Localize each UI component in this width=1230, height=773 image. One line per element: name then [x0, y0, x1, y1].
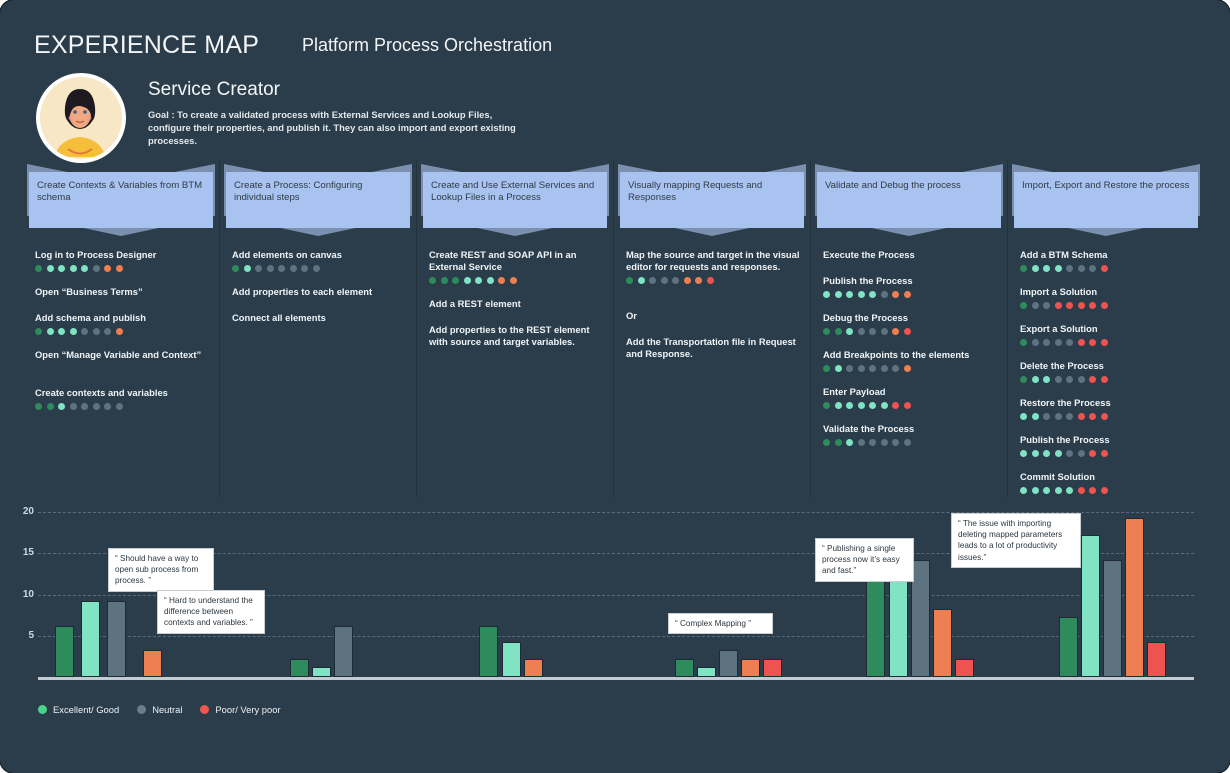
- rating-dot-dark-green: [835, 439, 842, 446]
- step-label: Export a Solution: [1020, 323, 1194, 335]
- step-rating-dots: [1020, 302, 1194, 309]
- rating-dot-grey: [881, 328, 888, 335]
- stage-step[interactable]: Or: [626, 310, 800, 322]
- step-label: Add elements on canvas: [232, 249, 406, 261]
- chart-bar-mint: [81, 601, 100, 677]
- step-rating-dots: [1020, 413, 1194, 420]
- rating-dot-red: [904, 328, 911, 335]
- rating-dot-dark-green: [35, 265, 42, 272]
- rating-dot-orange: [684, 277, 691, 284]
- rating-dot-grey: [1066, 376, 1073, 383]
- chart-bar-red: [763, 659, 782, 678]
- rating-dot-red: [707, 277, 714, 284]
- rating-dot-mint: [846, 291, 853, 298]
- rating-dot-mint: [846, 402, 853, 409]
- rating-dot-grey: [93, 265, 100, 272]
- chart-quote-annotation: “ Should have a way to open sub process …: [108, 548, 214, 592]
- legend-dot: [38, 705, 47, 714]
- rating-dot-grey: [904, 439, 911, 446]
- rating-dot-mint: [487, 277, 494, 284]
- rating-dot-dark-green: [47, 403, 54, 410]
- step-rating-dots: [232, 265, 406, 272]
- stage-step[interactable]: Add the Transportation file in Request a…: [626, 336, 800, 360]
- rating-dot-dark-green: [35, 328, 42, 335]
- rating-dot-mint: [1032, 450, 1039, 457]
- stage-title: Create a Process: Configuring individual…: [234, 180, 402, 205]
- rating-dot-mint: [835, 365, 842, 372]
- legend-item[interactable]: Excellent/ Good: [38, 704, 119, 715]
- step-rating-dots: [35, 328, 209, 335]
- stage-title: Validate and Debug the process: [825, 180, 993, 192]
- rating-dot-mint: [1032, 265, 1039, 272]
- stage-banner[interactable]: Import, Export and Restore the process: [1014, 172, 1198, 228]
- rating-dot-grey: [869, 365, 876, 372]
- chart-bar-dark-green: [675, 659, 694, 678]
- rating-dot-mint: [70, 328, 77, 335]
- rating-dot-grey: [672, 277, 679, 284]
- stage-banner[interactable]: Visually mapping Requests and Responses: [620, 172, 804, 228]
- rating-dot-mint: [869, 402, 876, 409]
- rating-dot-mint: [47, 265, 54, 272]
- chart-bar-dark-green: [866, 576, 885, 677]
- rating-dot-red: [1089, 376, 1096, 383]
- rating-dot-dark-green: [1020, 376, 1027, 383]
- column-divider: [810, 160, 811, 498]
- rating-dot-red: [1078, 413, 1085, 420]
- rating-dot-grey: [1055, 413, 1062, 420]
- rating-dot-dark-green: [823, 439, 830, 446]
- step-rating-dots: [823, 328, 997, 335]
- rating-dot-grey: [70, 403, 77, 410]
- rating-dot-grey: [892, 439, 899, 446]
- rating-dot-red: [1101, 302, 1108, 309]
- rating-dot-mint: [1043, 265, 1050, 272]
- chart-legend: Excellent/ GoodNeutralPoor/ Very poor: [38, 704, 281, 715]
- step-rating-dots: [429, 277, 603, 284]
- rating-dot-grey: [1032, 302, 1039, 309]
- rating-dot-red: [1101, 450, 1108, 457]
- rating-dot-grey: [869, 439, 876, 446]
- rating-dot-red: [1078, 339, 1085, 346]
- rating-dot-grey: [661, 277, 668, 284]
- step-label: Add properties to each element: [232, 286, 406, 298]
- rating-dot-dark-green: [823, 365, 830, 372]
- step-rating-dots: [823, 365, 997, 372]
- stage-step[interactable]: Connect all elements: [232, 312, 406, 324]
- rating-dot-mint: [846, 328, 853, 335]
- rating-dot-red: [1101, 265, 1108, 272]
- rating-dot-grey: [892, 365, 899, 372]
- stage-title: Create and Use External Services and Loo…: [431, 180, 599, 205]
- step-rating-dots: [823, 291, 997, 298]
- step-label: Map the source and target in the visual …: [626, 249, 800, 273]
- rating-dot-grey: [1055, 376, 1062, 383]
- rating-dot-grey: [81, 328, 88, 335]
- step-label: Create contexts and variables: [35, 387, 209, 399]
- stage-step[interactable]: Publish the Process: [1020, 434, 1194, 457]
- rating-dot-grey: [846, 365, 853, 372]
- rating-dot-red: [1101, 413, 1108, 420]
- stage-step[interactable]: Validate the Process: [823, 423, 997, 446]
- rating-dot-mint: [1066, 487, 1073, 494]
- rating-dot-mint: [638, 277, 645, 284]
- rating-dot-dark-green: [1020, 265, 1027, 272]
- rating-dot-grey: [104, 328, 111, 335]
- rating-dot-grey: [1066, 413, 1073, 420]
- rating-dot-mint: [70, 265, 77, 272]
- stage-step[interactable]: Create REST and SOAP API in an External …: [429, 249, 603, 284]
- stage-column-2: Create a Process: Configuring individual…: [224, 150, 412, 498]
- chart-bar-dark-green: [1059, 617, 1078, 677]
- rating-dot-mint: [58, 328, 65, 335]
- rating-dot-mint: [47, 328, 54, 335]
- stage-column-6: Import, Export and Restore the processAd…: [1012, 150, 1200, 498]
- rating-dot-red: [892, 402, 899, 409]
- rating-dot-dark-green: [823, 328, 830, 335]
- stage-banner[interactable]: Create a Process: Configuring individual…: [226, 172, 410, 228]
- chart-bar-dark-green: [55, 626, 74, 678]
- stage-step[interactable]: Restore the Process: [1020, 397, 1194, 420]
- rating-dot-grey: [93, 328, 100, 335]
- rating-dot-red: [1089, 450, 1096, 457]
- stage-step[interactable]: Publish the Process: [823, 275, 997, 298]
- rating-dot-red: [1078, 302, 1085, 309]
- stage-title: Import, Export and Restore the process: [1022, 180, 1190, 192]
- stage-column-3: Create and Use External Services and Loo…: [421, 150, 609, 498]
- rating-dot-orange: [510, 277, 517, 284]
- rating-dot-mint: [1032, 413, 1039, 420]
- stage-step[interactable]: Add Breakpoints to the elements: [823, 349, 997, 372]
- rating-dot-dark-green: [232, 265, 239, 272]
- step-rating-dots: [1020, 339, 1194, 346]
- step-rating-dots: [35, 403, 209, 410]
- stage-column-5: Validate and Debug the processExecute th…: [815, 150, 1003, 498]
- rating-dot-mint: [835, 402, 842, 409]
- rating-dot-dark-green: [452, 277, 459, 284]
- rating-dot-grey: [881, 291, 888, 298]
- rating-dot-red: [1089, 413, 1096, 420]
- rating-dot-grey: [1089, 265, 1096, 272]
- column-divider: [416, 160, 417, 498]
- rating-dot-mint: [1043, 450, 1050, 457]
- step-label: Add Breakpoints to the elements: [823, 349, 997, 361]
- step-label: Validate the Process: [823, 423, 997, 435]
- rating-dot-orange: [904, 365, 911, 372]
- chart-baseline: [38, 677, 1194, 680]
- rating-dot-red: [904, 402, 911, 409]
- rating-dot-mint: [475, 277, 482, 284]
- step-label: Or: [626, 310, 800, 322]
- rating-dot-mint: [1020, 413, 1027, 420]
- step-label: Publish the Process: [1020, 434, 1194, 446]
- rating-dot-mint: [1043, 487, 1050, 494]
- rating-dot-mint: [244, 265, 251, 272]
- rating-dot-mint: [1055, 487, 1062, 494]
- rating-dot-mint: [464, 277, 471, 284]
- chart-bar-dark-green: [479, 626, 498, 678]
- rating-dot-grey: [1078, 376, 1085, 383]
- rating-dot-red: [1078, 487, 1085, 494]
- step-rating-dots: [1020, 450, 1194, 457]
- stage-banner[interactable]: Validate and Debug the process: [817, 172, 1001, 228]
- step-label: Add a REST element: [429, 298, 603, 310]
- chart-bar-mint: [889, 576, 908, 677]
- legend-item[interactable]: Poor/ Very poor: [200, 704, 280, 715]
- rating-dot-dark-green: [1020, 339, 1027, 346]
- rating-dot-mint: [835, 291, 842, 298]
- rating-dot-orange: [904, 291, 911, 298]
- chart-quote-annotation: “ Complex Mapping ”: [668, 613, 773, 634]
- rating-dot-grey: [881, 439, 888, 446]
- rating-dot-grey: [301, 265, 308, 272]
- rating-dot-grey: [1032, 339, 1039, 346]
- stage-step[interactable]: Debug the Process: [823, 312, 997, 335]
- rating-dot-grey: [267, 265, 274, 272]
- stage-step[interactable]: Execute the Process: [823, 249, 997, 261]
- stage-step[interactable]: Commit Solution: [1020, 471, 1194, 494]
- rating-dot-dark-green: [835, 328, 842, 335]
- rating-dot-orange: [695, 277, 702, 284]
- stage-step[interactable]: Import a Solution: [1020, 286, 1194, 309]
- rating-dot-grey: [858, 328, 865, 335]
- chart-bar-grey: [107, 601, 126, 677]
- stage-column-4: Visually mapping Requests and ResponsesM…: [618, 150, 806, 498]
- rating-dot-grey: [104, 403, 111, 410]
- rating-dot-mint: [846, 439, 853, 446]
- step-label: Commit Solution: [1020, 471, 1194, 483]
- step-label: Log in to Process Designer: [35, 249, 209, 261]
- step-label: Add schema and publish: [35, 312, 209, 324]
- rating-dot-grey: [290, 265, 297, 272]
- avatar-illustration: [40, 77, 120, 157]
- chart-bar-mint: [1081, 535, 1100, 677]
- step-label: Create REST and SOAP API in an External …: [429, 249, 603, 273]
- stage-step[interactable]: Add schema and publish: [35, 312, 209, 335]
- chart-quote-annotation: “ Publishing a single process now it’s e…: [815, 538, 914, 582]
- chart-bar-mint: [502, 642, 521, 677]
- chart-bar-mint: [312, 667, 331, 677]
- rating-dot-dark-green: [35, 403, 42, 410]
- persona-goal: Goal : To create a validated process wit…: [148, 108, 518, 147]
- rating-dot-grey: [93, 403, 100, 410]
- step-label: Add a BTM Schema: [1020, 249, 1194, 261]
- persona-name: Service Creator: [148, 79, 280, 101]
- rating-dot-mint: [81, 265, 88, 272]
- rating-dot-orange: [892, 328, 899, 335]
- rating-dot-grey: [869, 328, 876, 335]
- rating-dot-mint: [823, 291, 830, 298]
- stage-banner[interactable]: Create Contexts & Variables from BTM sch…: [29, 172, 213, 228]
- rating-dot-mint: [881, 402, 888, 409]
- rating-dot-grey: [649, 277, 656, 284]
- rating-dot-red: [1089, 302, 1096, 309]
- rating-dot-grey: [1066, 265, 1073, 272]
- chart-bar-grey: [1103, 560, 1122, 678]
- rating-dot-mint: [1032, 376, 1039, 383]
- chart-bar-red: [955, 659, 974, 678]
- step-label: Debug the Process: [823, 312, 997, 324]
- stage-title: Visually mapping Requests and Responses: [628, 180, 796, 205]
- step-label: Add properties to the REST element with …: [429, 324, 603, 348]
- rating-dot-grey: [255, 265, 262, 272]
- rating-dot-grey: [1043, 339, 1050, 346]
- rating-dot-orange: [104, 265, 111, 272]
- rating-dot-mint: [1055, 450, 1062, 457]
- stage-step[interactable]: Open “Manage Variable and Context”: [35, 349, 209, 361]
- step-rating-dots: [35, 265, 209, 272]
- step-rating-dots: [823, 439, 997, 446]
- legend-label: Excellent/ Good: [53, 704, 119, 715]
- stage-step[interactable]: Add a REST element: [429, 298, 603, 310]
- rating-dot-grey: [881, 365, 888, 372]
- step-label: Open “Manage Variable and Context”: [35, 349, 209, 361]
- stage-step[interactable]: Add properties to the REST element with …: [429, 324, 603, 348]
- rating-dot-red: [1101, 487, 1108, 494]
- legend-item[interactable]: Neutral: [137, 704, 182, 715]
- rating-dot-grey: [1055, 339, 1062, 346]
- rating-dot-orange: [116, 328, 123, 335]
- rating-dot-mint: [58, 403, 65, 410]
- stage-step[interactable]: Log in to Process Designer: [35, 249, 209, 272]
- step-label: Publish the Process: [823, 275, 997, 287]
- chart-bar-orange: [143, 650, 162, 677]
- rating-dot-dark-green: [429, 277, 436, 284]
- step-label: Execute the Process: [823, 249, 997, 261]
- step-label: Delete the Process: [1020, 360, 1194, 372]
- chart-bar-orange: [741, 659, 760, 678]
- rating-dot-grey: [1078, 450, 1085, 457]
- rating-dot-grey: [81, 403, 88, 410]
- rating-dot-grey: [1043, 302, 1050, 309]
- rating-dot-orange: [116, 265, 123, 272]
- rating-dot-mint: [1043, 376, 1050, 383]
- rating-dot-mint: [1032, 487, 1039, 494]
- rating-dot-grey: [1066, 339, 1073, 346]
- rating-dot-dark-green: [823, 402, 830, 409]
- rating-dot-grey: [1043, 413, 1050, 420]
- step-rating-dots: [1020, 487, 1194, 494]
- legend-label: Poor/ Very poor: [215, 704, 280, 715]
- step-label: Open “Business Terms”: [35, 286, 209, 298]
- rating-dot-grey: [313, 265, 320, 272]
- legend-label: Neutral: [152, 704, 182, 715]
- step-rating-dots: [1020, 376, 1194, 383]
- stage-step[interactable]: Enter Payload: [823, 386, 997, 409]
- stage-step[interactable]: Map the source and target in the visual …: [626, 249, 800, 284]
- rating-dot-red: [1055, 302, 1062, 309]
- rating-dot-mint: [58, 265, 65, 272]
- chart-quote-annotation: “ Hard to understand the difference betw…: [157, 590, 265, 634]
- rating-dot-red: [1066, 302, 1073, 309]
- stage-step[interactable]: Add properties to each element: [232, 286, 406, 298]
- rating-dot-mint: [1020, 450, 1027, 457]
- chart-bar-red: [1147, 642, 1166, 677]
- stage-step[interactable]: Open “Business Terms”: [35, 286, 209, 298]
- rating-dot-orange: [892, 291, 899, 298]
- rating-dot-red: [1089, 339, 1096, 346]
- rating-dot-red: [1089, 487, 1096, 494]
- step-label: Add the Transportation file in Request a…: [626, 336, 800, 360]
- rating-dot-grey: [116, 403, 123, 410]
- chart-bar-orange: [933, 609, 952, 677]
- step-rating-dots: [626, 277, 800, 284]
- step-label: Enter Payload: [823, 386, 997, 398]
- rating-dot-mint: [1020, 487, 1027, 494]
- column-divider: [219, 160, 220, 498]
- rating-dot-grey: [858, 439, 865, 446]
- rating-dot-grey: [278, 265, 285, 272]
- step-label: Import a Solution: [1020, 286, 1194, 298]
- rating-dot-red: [1101, 376, 1108, 383]
- chart-bar-mint: [697, 667, 716, 677]
- stage-step[interactable]: Add a BTM Schema: [1020, 249, 1194, 272]
- step-label: Restore the Process: [1020, 397, 1194, 409]
- rating-dot-mint: [869, 291, 876, 298]
- chart-bar-grey: [719, 650, 738, 677]
- rating-dot-orange: [498, 277, 505, 284]
- rating-dot-grey: [858, 365, 865, 372]
- step-rating-dots: [1020, 265, 1194, 272]
- rating-dot-dark-green: [626, 277, 633, 284]
- rating-dot-mint: [858, 291, 865, 298]
- rating-dot-dark-green: [441, 277, 448, 284]
- rating-dot-grey: [1066, 450, 1073, 457]
- page-title: EXPERIENCE MAP: [34, 31, 259, 60]
- legend-dot: [200, 705, 209, 714]
- column-divider: [1007, 160, 1008, 498]
- rating-dot-grey: [1078, 265, 1085, 272]
- rating-dot-mint: [858, 402, 865, 409]
- rating-dot-mint: [1055, 265, 1062, 272]
- experience-map-canvas: EXPERIENCE MAP Platform Process Orchestr…: [0, 0, 1230, 773]
- legend-dot: [137, 705, 146, 714]
- chart-bar-grey: [334, 626, 353, 678]
- stage-step[interactable]: Export a Solution: [1020, 323, 1194, 346]
- chart-bar-orange: [1125, 518, 1144, 677]
- stage-step[interactable]: Delete the Process: [1020, 360, 1194, 383]
- chart-quote-annotation: “ The issue with importing deleting mapp…: [951, 513, 1081, 568]
- stage-column-1: Create Contexts & Variables from BTM sch…: [27, 150, 215, 498]
- satisfaction-bar-chart: 5101520 “ Should have a way to open sub …: [0, 500, 1230, 735]
- page-subtitle: Platform Process Orchestration: [302, 35, 552, 56]
- column-divider: [613, 160, 614, 498]
- step-rating-dots: [823, 402, 997, 409]
- stage-step[interactable]: Create contexts and variables: [35, 387, 209, 410]
- rating-dot-red: [1101, 339, 1108, 346]
- step-label: Connect all elements: [232, 312, 406, 324]
- chart-bar-orange: [524, 659, 543, 678]
- stage-title: Create Contexts & Variables from BTM sch…: [37, 180, 205, 205]
- rating-dot-dark-green: [1020, 302, 1027, 309]
- stage-step[interactable]: Add elements on canvas: [232, 249, 406, 272]
- chart-bar-dark-green: [290, 659, 309, 678]
- stage-banner[interactable]: Create and Use External Services and Loo…: [423, 172, 607, 228]
